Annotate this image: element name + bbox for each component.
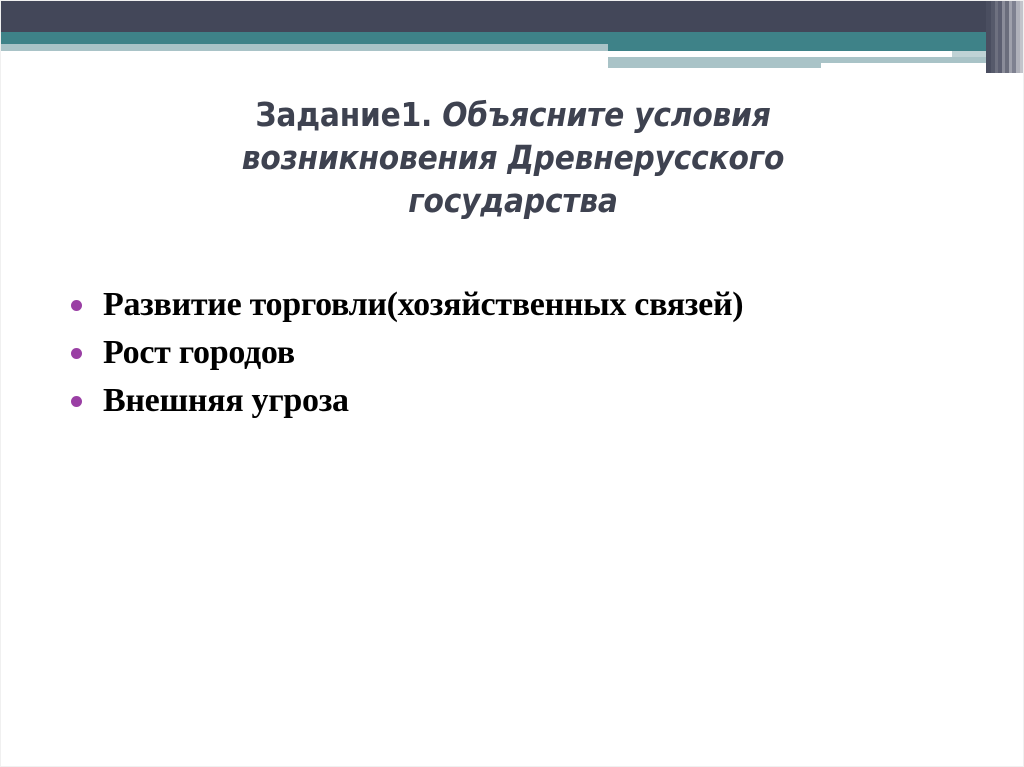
- header-navy-band: [1, 1, 1024, 32]
- bullet-dot-icon: [71, 396, 82, 407]
- edge-stripe: [1020, 1, 1024, 73]
- title-emphasis-part-1: Объясните условия: [432, 95, 770, 134]
- header-light-band-lower: [608, 57, 821, 68]
- page-title: Задание1. Объясните условия возникновени…: [141, 93, 885, 222]
- header-light-band-left: [1, 44, 608, 51]
- bullet-dot-icon: [71, 348, 82, 359]
- list-item: Развитие торговли(хозяйственных связей): [63, 283, 923, 327]
- slide-canvas: Задание1. Объясните условия возникновени…: [0, 0, 1024, 767]
- title-line-2: возникновения Древнерусского: [141, 136, 885, 179]
- header-teal-band-right: [608, 32, 1024, 51]
- header-teal-band-left: [1, 32, 608, 44]
- title-task-number: Задание1.: [255, 95, 432, 134]
- list-item-label: Внешняя угроза: [103, 379, 923, 423]
- header-decoration: [1, 1, 1024, 81]
- title-line-3: государства: [141, 179, 885, 222]
- title-line-1: Задание1. Объясните условия: [141, 93, 885, 136]
- list-item-label: Развитие торговли(хозяйственных связей): [103, 283, 923, 327]
- list-item: Рост городов: [63, 331, 923, 375]
- bullet-dot-icon: [71, 300, 82, 311]
- list-item: Внешняя угроза: [63, 379, 923, 423]
- edge-stripe-group: [986, 1, 1024, 73]
- list-item-label: Рост городов: [103, 331, 923, 375]
- content-bullet-list: Развитие торговли(хозяйственных связей) …: [63, 283, 923, 427]
